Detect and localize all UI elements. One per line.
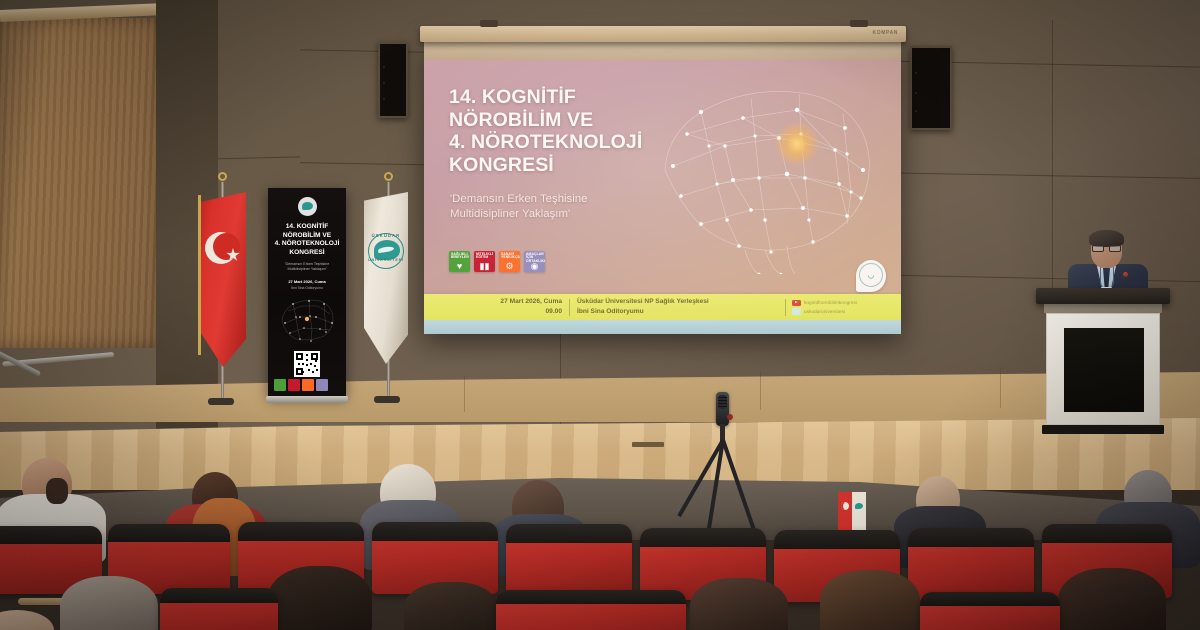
qr-code[interactable]: [294, 351, 320, 377]
banner-brain-network-icon: [276, 297, 338, 343]
sdg-badge: [274, 379, 286, 391]
uskudar-university-logo: ◡: [856, 260, 886, 292]
dolphin-icon: ◡: [868, 270, 875, 279]
podium-front-panel: [1064, 328, 1144, 412]
banner-subtitle-line: Multidisipliner Yaklaşım': [274, 267, 340, 272]
sdg-badge: [288, 379, 300, 391]
sdg-label: NİTELİKLİ EĞİTİM: [476, 253, 494, 261]
auditorium-seat[interactable]: [506, 524, 632, 596]
tripod-knob: [727, 414, 733, 420]
banner-university-logo: [298, 197, 317, 216]
instagram-icon: [792, 308, 801, 315]
brain-network-illustration: [647, 74, 887, 274]
sdg-badge: AMAÇLAR İÇİN ORTAKLIKLAR ◉: [524, 251, 545, 272]
audience-member: [0, 610, 54, 630]
auditorium-seat[interactable]: [920, 592, 1060, 630]
audience-member: [1058, 568, 1166, 630]
venue-line: İbni Sina Oditoryumu: [577, 307, 785, 317]
uskudar-university-logo: [368, 233, 404, 269]
sdg-badges: SAĞLIKLI BİREYLER ♥ NİTELİKLİ EĞİTİM ▮▮ …: [449, 251, 545, 272]
sdg-badge: SAĞLIKLI BİREYLER ♥: [449, 251, 470, 272]
slide-subtitle-line: 'Demansın Erken Teşhisine: [450, 192, 675, 207]
audience-member: [404, 582, 498, 630]
sdg-heart-icon: ♥: [449, 262, 470, 271]
audience-member: [820, 570, 920, 630]
rollup-banner: 14. KOGNİTİF NÖROBİLİM VE 4. NÖROTEKNOLO…: [268, 188, 346, 396]
lapel-pin-icon: [1123, 272, 1128, 277]
youtube-handle: kognitifnorobilimkongresi: [804, 300, 857, 305]
flag-stand-base: [208, 398, 234, 405]
projector-screen-housing: KOMPAN: [420, 26, 906, 42]
wall-speaker-icon: [378, 42, 408, 118]
screen-top-band: [424, 42, 901, 60]
sdg-gear-icon: ⚙: [499, 262, 520, 271]
slide-footer-band: [424, 320, 901, 334]
audience-member: [268, 566, 372, 630]
banner-base: [266, 396, 348, 403]
screen-mount: [480, 20, 498, 27]
stage-seam: [1000, 368, 1001, 408]
stage-seam: [760, 372, 761, 410]
instagram-handle: uskudaruniversitesi: [804, 309, 845, 314]
speaker-podium: [1042, 288, 1164, 438]
event-time: 09.00: [424, 307, 562, 317]
slide-subtitle: 'Demansın Erken Teşhisine Multidisipline…: [450, 192, 675, 223]
slide-info-bar: 27 Mart 2026, Cuma 09.00 Üsküdar Ünivers…: [424, 294, 901, 320]
banner-title-line: 4. NÖROTEKNOLOJİ: [273, 240, 341, 249]
sdg-badge: [316, 379, 328, 391]
audience-member: [690, 578, 788, 630]
auditorium-seat[interactable]: [496, 590, 686, 630]
social-handles: kognitifnorobilimkongresi uskudarunivers…: [786, 300, 857, 315]
microphone-icon: [716, 392, 729, 426]
event-date: 27 Mart 2026, Cuma: [424, 297, 562, 307]
wall-speaker-icon: [910, 46, 952, 130]
stage-seam: [464, 376, 465, 412]
banner-title-line: NÖROBİLİM VE: [273, 232, 341, 241]
brain-network-svg: [647, 74, 887, 274]
social-row: kognitifnorobilimkongresi: [792, 300, 857, 307]
conference-lanyard: [1100, 266, 1114, 288]
event-date-time: 27 Mart 2026, Cuma 09.00: [424, 297, 569, 317]
audience-area: [0, 470, 1200, 630]
sdg-label: SAĞLIKLI BİREYLER: [451, 253, 469, 261]
banner-date: 27 Mart 2026, Cuma: [274, 279, 340, 285]
screen-brand-label: KOMPAN: [873, 30, 898, 36]
sdg-circle-icon: ◉: [524, 262, 545, 271]
auditorium-photo: KOMPAN 14. KOGNİTİF NÖROBİLİM VE 4. NÖRO…: [0, 0, 1200, 630]
flag-fringe: [198, 195, 201, 355]
banner-brain-svg: [276, 297, 338, 343]
flag-finial-icon: [218, 172, 227, 181]
presentation-slide: 14. KOGNİTİF NÖROBİLİM VE 4. NÖROTEKNOLO…: [424, 60, 901, 334]
audience-member: [60, 576, 158, 630]
flag-logo-bottom-text: ÜNİVERSİTESİ: [368, 258, 404, 262]
sdg-badge: [302, 379, 314, 391]
crescent-icon: [205, 232, 237, 264]
banner-title-line: KONGRESİ: [273, 249, 341, 258]
auditorium-seat[interactable]: [908, 528, 1034, 600]
banner-subtitle: 'Demansın Erken Teşhisine Multidisipline…: [274, 262, 340, 272]
uskudar-university-flag: [364, 192, 408, 364]
youtube-icon: [792, 300, 801, 307]
sdg-books-icon: ▮▮: [474, 262, 495, 271]
sdg-badge: NİTELİKLİ EĞİTİM ▮▮: [474, 251, 495, 272]
glasses-icon: [1092, 245, 1121, 252]
slide-subtitle-line: Multidisipliner Yaklaşım': [450, 207, 675, 222]
flag-logo-top-text: ÜSKÜDAR: [368, 233, 404, 238]
social-row: uskudaruniversitesi: [792, 308, 857, 315]
projection-screen: 14. KOGNİTİF NÖROBİLİM VE 4. NÖROTEKNOLO…: [424, 42, 901, 334]
event-venue: Üsküdar Üniversitesi NP Sağlık Yerleşkes…: [570, 297, 785, 317]
seat-armrest: [18, 598, 66, 605]
flag-finial-icon: [384, 172, 393, 181]
highlighted-node-icon: [774, 121, 820, 167]
beard-icon: [46, 478, 68, 504]
banner-sdg-badges: [274, 379, 328, 391]
banner-title-line: 14. KOGNİTİF: [273, 223, 341, 232]
auditorium-seat[interactable]: [160, 588, 278, 630]
screen-mount: [850, 20, 868, 27]
flag-stand-base: [374, 396, 400, 403]
venue-line: Üsküdar Üniversitesi NP Sağlık Yerleşkes…: [577, 297, 785, 307]
wood-wall-panel: [0, 18, 168, 348]
banner-title: 14. KOGNİTİF NÖROBİLİM VE 4. NÖROTEKNOLO…: [273, 223, 341, 257]
sdg-badge: SANAYİ YENİLİKÇİLİK ⚙: [499, 251, 520, 272]
stage-floor-outlet: [632, 442, 664, 447]
sdg-label: SANAYİ YENİLİKÇİLİK: [501, 253, 519, 261]
banner-place: İbni Sina Oditoryumu: [274, 286, 340, 291]
